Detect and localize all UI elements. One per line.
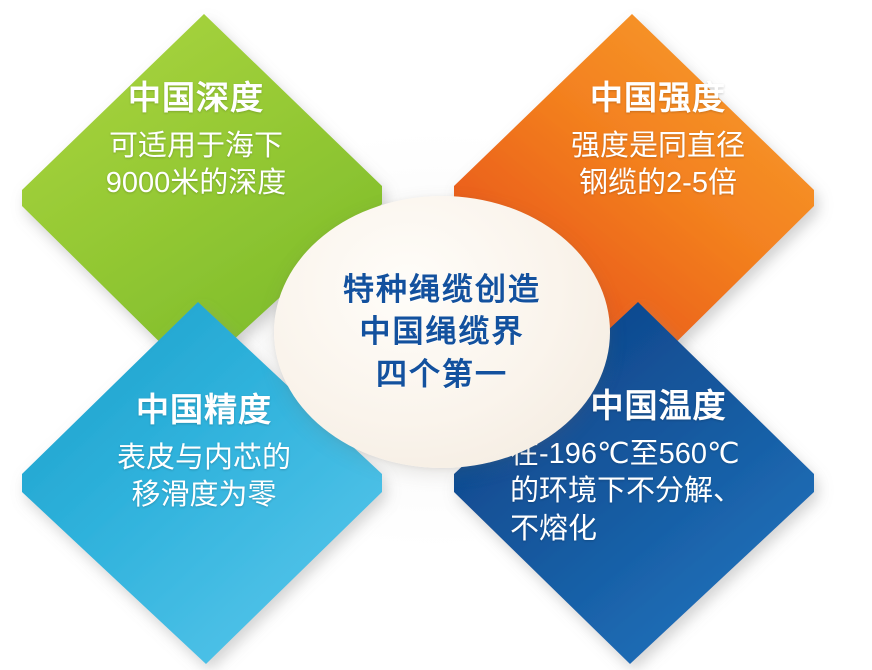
center-ellipse-shape [274,196,610,468]
center-badge[interactable]: 特种绳缆创造 中国绳缆界 四个第一 [274,196,610,468]
infographic-canvas: 中国深度 可适用于海下 9000米的深度 [0,0,872,670]
